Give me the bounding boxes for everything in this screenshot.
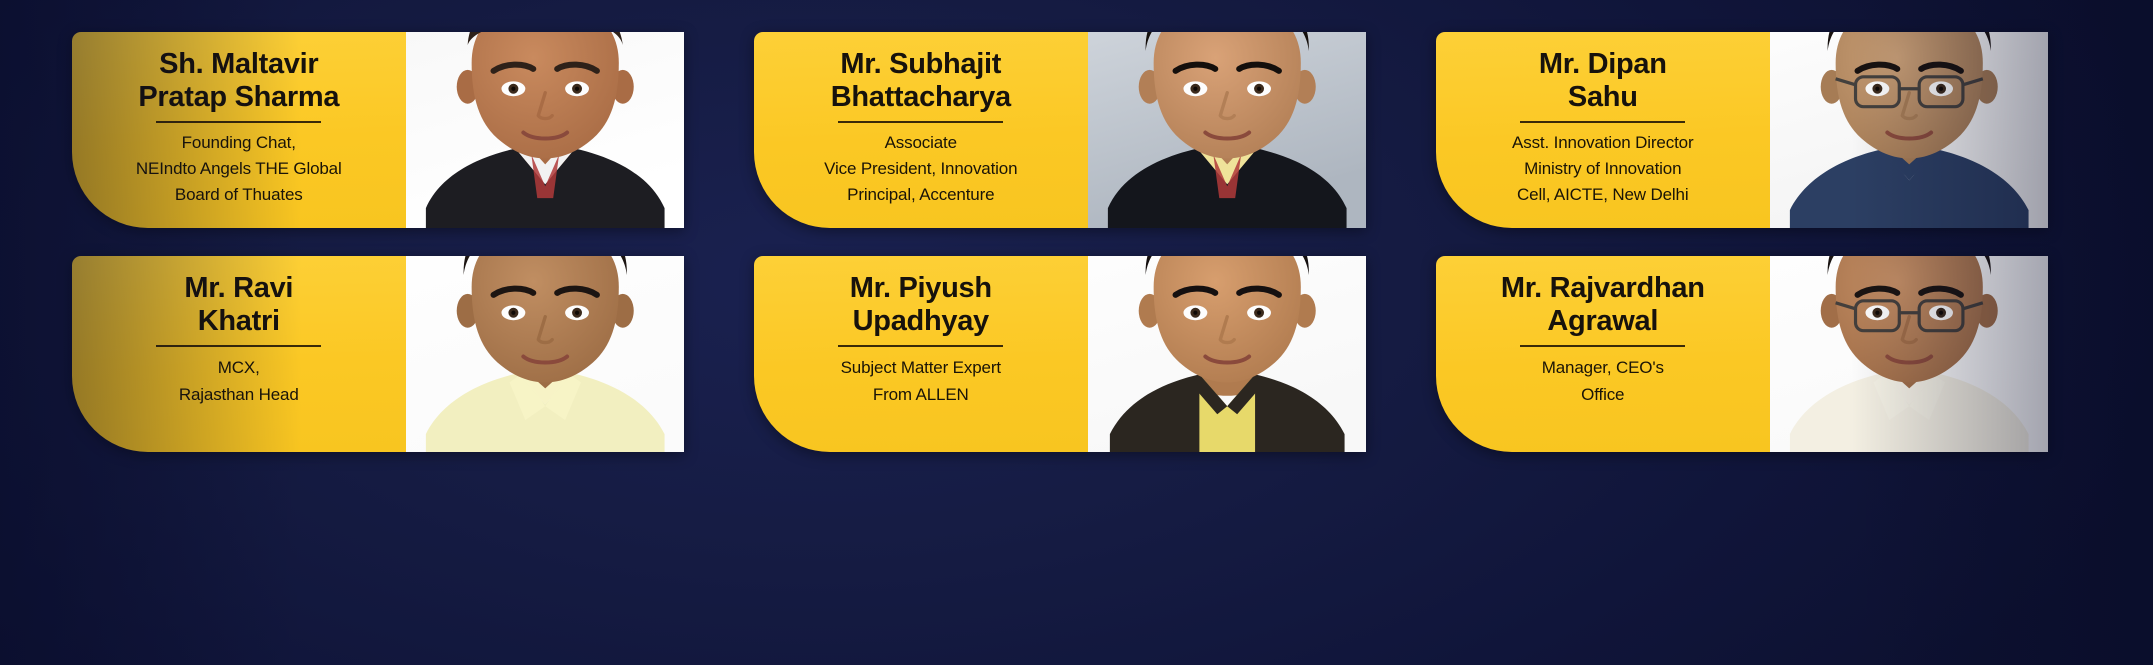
speaker-info-panel: Mr. Subhajit Bhattacharya Associate Vice… — [754, 32, 1088, 228]
portrait-rajvardhan-agrawal — [1770, 256, 2048, 452]
name-divider — [1520, 345, 1685, 347]
speaker-info-panel: Mr. Ravi Khatri MCX, Rajasthan Head — [72, 256, 406, 452]
speaker-info-panel: Mr. Rajvardhan Agrawal Manager, CEO's Of… — [1436, 256, 1770, 452]
speaker-panel-background: Sh. Maltavir Pratap Sharma Founding Chat… — [0, 0, 2153, 665]
speaker-card-dipan-sahu[interactable]: Mr. Dipan Sahu Asst. Innovation Director… — [1436, 32, 2048, 228]
speaker-photo — [406, 32, 684, 228]
speaker-role: Asst. Innovation Director Ministry of In… — [1512, 130, 1693, 209]
speaker-info-panel: Mr. Piyush Upadhyay Subject Matter Exper… — [754, 256, 1088, 452]
name-divider — [838, 345, 1003, 347]
name-divider — [156, 121, 321, 123]
speaker-card-ravi-khatri[interactable]: Mr. Ravi Khatri MCX, Rajasthan Head — [72, 256, 684, 452]
speaker-name: Mr. Subhajit Bhattacharya — [831, 48, 1011, 114]
speaker-photo — [1088, 256, 1366, 452]
speaker-role: Associate Vice President, Innovation Pri… — [824, 130, 1017, 209]
portrait-piyush-upadhyay — [1088, 256, 1366, 452]
speaker-card-subhajit-bhattacharya[interactable]: Mr. Subhajit Bhattacharya Associate Vice… — [754, 32, 1366, 228]
portrait-ravi-khatri — [406, 256, 684, 452]
speaker-card-rajvardhan-agrawal[interactable]: Mr. Rajvardhan Agrawal Manager, CEO's Of… — [1436, 256, 2048, 452]
speaker-role: MCX, Rajasthan Head — [179, 354, 299, 409]
speaker-name: Mr. Ravi Khatri — [184, 272, 293, 338]
speaker-name: Mr. Piyush Upadhyay — [850, 272, 992, 338]
speakers-grid: Sh. Maltavir Pratap Sharma Founding Chat… — [72, 32, 2048, 644]
speaker-photo — [406, 256, 684, 452]
portrait-maltavir-pratap-sharma — [406, 32, 684, 228]
speaker-photo — [1770, 32, 2048, 228]
speaker-info-panel: Sh. Maltavir Pratap Sharma Founding Chat… — [72, 32, 406, 228]
speaker-role: Founding Chat, NEIndto Angels THE Global… — [136, 130, 342, 209]
speaker-photo — [1770, 256, 2048, 452]
speaker-name: Mr. Rajvardhan Agrawal — [1501, 272, 1705, 338]
speaker-info-panel: Mr. Dipan Sahu Asst. Innovation Director… — [1436, 32, 1770, 228]
speaker-name: Mr. Dipan Sahu — [1539, 48, 1667, 114]
speaker-card-maltavir-pratap-sharma[interactable]: Sh. Maltavir Pratap Sharma Founding Chat… — [72, 32, 684, 228]
speaker-photo — [1088, 32, 1366, 228]
speaker-role: Manager, CEO's Office — [1542, 354, 1664, 409]
name-divider — [156, 345, 321, 347]
portrait-subhajit-bhattacharya — [1088, 32, 1366, 228]
name-divider — [1520, 121, 1685, 123]
speaker-name: Sh. Maltavir Pratap Sharma — [138, 48, 339, 114]
speaker-role: Subject Matter Expert From ALLEN — [841, 354, 1001, 409]
speaker-card-piyush-upadhyay[interactable]: Mr. Piyush Upadhyay Subject Matter Exper… — [754, 256, 1366, 452]
portrait-dipan-sahu — [1770, 32, 2048, 228]
name-divider — [838, 121, 1003, 123]
